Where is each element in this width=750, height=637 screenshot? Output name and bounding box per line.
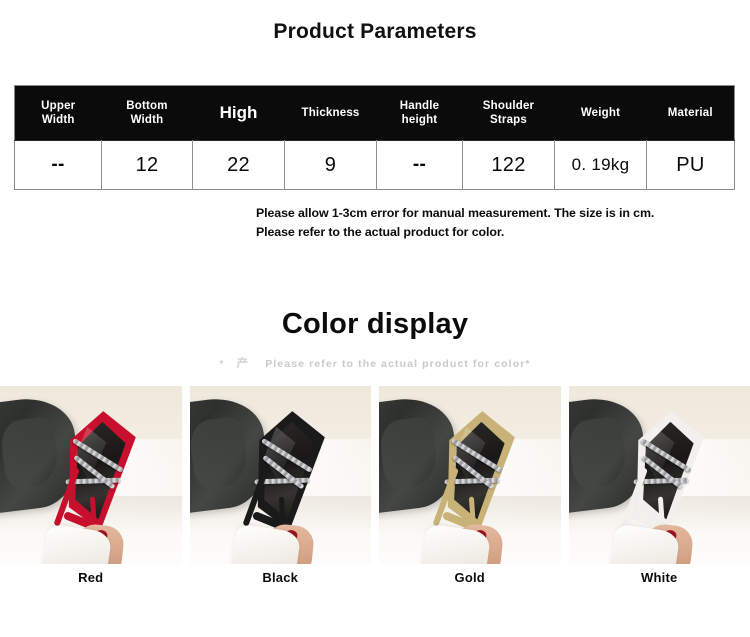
photo-background [190,386,372,564]
cjk-glyph: 产 [237,358,250,370]
header-line-1: Upper [41,100,75,112]
table-header-thickness: Thickness [285,86,377,141]
product-parameters-table: Upper Width Bottom Width High Thickness … [14,85,735,190]
product-parameters-title: Product Parameters [0,20,750,44]
cell-material: PU [647,141,735,190]
cell-shoulder-straps: 122 [463,141,555,190]
swatch-label-white: White [569,570,750,592]
table-header-upper-width: Upper Width [15,86,102,141]
asterisk-icon: * [219,358,224,370]
table-row: -- 12 22 9 -- 122 0. 19kg PU [15,141,735,190]
header-line-2: Straps [490,114,527,126]
swatch-label-red: Red [0,570,182,592]
header-line-2: height [402,114,438,126]
table-header-bottom-width: Bottom Width [102,86,193,141]
header-line-1: High [220,103,258,122]
header-line-1: Bottom [126,100,167,112]
table-header-high: High [193,86,285,141]
product-photo-red[interactable] [0,386,182,564]
table-header-shoulder-straps: Shoulder Straps [463,86,555,141]
color-display-subtitle: *产Please refer to the actual product for… [0,355,750,371]
cell-thickness: 9 [285,141,377,190]
table-header-row: Upper Width Bottom Width High Thickness … [15,86,735,141]
header-line-2: Width [131,114,164,126]
photo-background [0,386,182,564]
header-line-1: Shoulder [483,100,534,112]
product-photo-black[interactable] [190,386,372,564]
header-line-1: Thickness [301,107,359,119]
cell-upper-width: -- [15,141,102,190]
cell-high: 22 [193,141,285,190]
swatch-label-gold: Gold [379,570,561,592]
color-display-title: Color display [0,308,750,341]
cell-handle-height: -- [377,141,463,190]
product-photo-gold[interactable] [379,386,561,564]
product-photo-white[interactable] [569,386,750,564]
disclaimer-line-1: Please allow 1-3cm error for manual meas… [256,204,746,223]
color-swatch-labels: Red Black Gold White [0,570,750,592]
cell-weight: 0. 19kg [555,141,647,190]
table-header-material: Material [647,86,735,141]
header-line-1: Weight [581,107,620,119]
photo-background [569,386,750,564]
disclaimer-line-2: Please refer to the actual product for c… [256,223,746,242]
color-disclaimer-text: Please refer to the actual product for c… [265,358,530,370]
table-header-weight: Weight [555,86,647,141]
measurement-disclaimer: Please allow 1-3cm error for manual meas… [256,204,746,242]
photo-background [379,386,561,564]
header-line-1: Material [668,107,713,119]
swatch-label-black: Black [190,570,372,592]
cell-bottom-width: 12 [102,141,193,190]
color-swatch-gallery [0,386,750,564]
header-line-1: Handle [400,100,440,112]
header-line-2: Width [42,114,75,126]
table-header-handle-height: Handle height [377,86,463,141]
